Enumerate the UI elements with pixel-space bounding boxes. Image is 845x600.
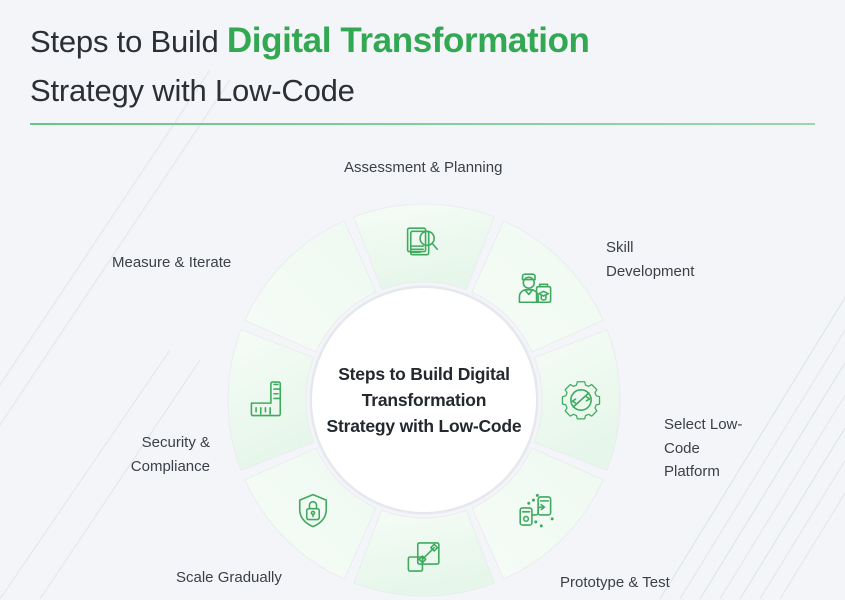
donut-inner-ring [311,287,537,513]
segment-label-measure-iterate[interactable]: Measure & Iterate [112,251,231,275]
segment-label-prototype-test[interactable]: Prototype & Test [560,571,670,595]
segment-label-scale-gradually[interactable]: Scale Gradually [176,566,282,590]
donut-segment-assessment-planning[interactable] [354,204,494,290]
page-title-line-2: Strategy with Low-Code [30,66,790,115]
donut-segment-scale-gradually[interactable] [354,510,494,596]
segment-label-assessment-planning[interactable]: Assessment & Planning [344,156,502,180]
page-header: Steps to Build Digital Transformation St… [30,16,790,115]
page-title-plain: Steps to Build [30,24,227,59]
segment-label-skill-development[interactable]: Skill Development [606,236,694,283]
process-cycle-donut: Steps to Build Digital Transformation St… [224,200,624,600]
donut-chart-svg [224,200,624,600]
header-divider [30,123,815,125]
page-title-accent: Digital Transformation [227,21,590,60]
donut-segment-select-platform[interactable] [534,330,620,470]
page-title-line-1: Steps to Build Digital Transformation [30,16,790,66]
segment-label-security-compliance[interactable]: Security & Compliance [112,431,210,478]
segment-label-select-platform[interactable]: Select Low- Code Platform [664,413,742,484]
